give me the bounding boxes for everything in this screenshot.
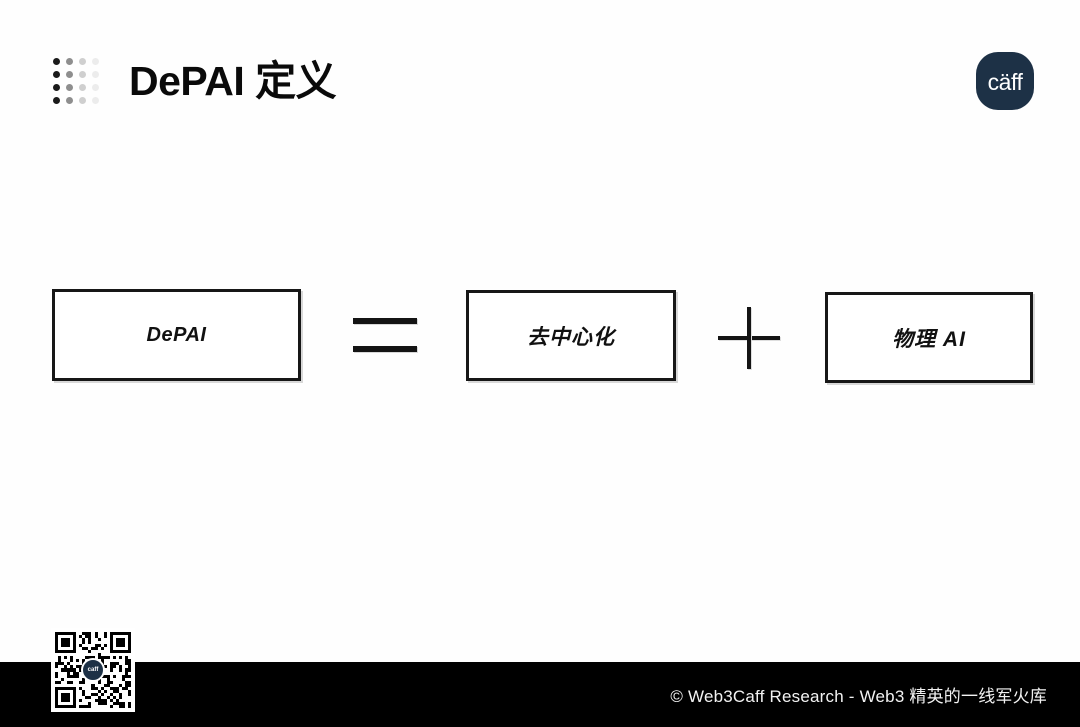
concept-box-decentralized: 去中心化 [466, 290, 676, 381]
qr-code[interactable]: caff [51, 628, 135, 712]
brand-logo-text: cäff [988, 71, 1023, 94]
dot-grid-cell [76, 55, 89, 68]
dot-icon [79, 58, 86, 65]
qr-code-center-badge: caff [81, 658, 105, 682]
concept-label-depai: DePAI [147, 324, 207, 347]
dot-icon [92, 84, 99, 91]
dot-grid-cell [76, 94, 89, 107]
slide-canvas: DePAI 定义 cäff DePAI 去中心化 物理 AI caff © W [0, 0, 1080, 727]
dot-icon [53, 71, 60, 78]
dot-icon [53, 58, 60, 65]
operator-plus [718, 307, 780, 369]
page-title: DePAI 定义 [129, 52, 336, 110]
dot-grid-cell [50, 94, 63, 107]
dot-icon [66, 97, 73, 104]
dot-grid-decoration [50, 55, 102, 107]
concept-label-physical-ai: 物理 AI [892, 323, 966, 353]
dot-icon [79, 97, 86, 104]
dot-grid-cell [50, 68, 63, 81]
dot-grid-cell [50, 81, 63, 94]
dot-icon [66, 71, 73, 78]
dot-grid-cell [89, 81, 102, 94]
dot-grid-cell [76, 81, 89, 94]
dot-icon [53, 97, 60, 104]
dot-grid-cell [76, 68, 89, 81]
equals-bar-bottom [353, 346, 417, 352]
dot-icon [66, 84, 73, 91]
dot-grid-cell [63, 68, 76, 81]
dot-grid-cell [63, 81, 76, 94]
dot-grid-cell [50, 55, 63, 68]
dot-icon [79, 84, 86, 91]
dot-grid-cell [63, 94, 76, 107]
brand-logo: cäff [976, 52, 1034, 110]
dot-icon [66, 58, 73, 65]
operator-equals [353, 318, 417, 354]
dot-icon [92, 97, 99, 104]
dot-icon [92, 71, 99, 78]
dot-icon [53, 84, 60, 91]
dot-icon [92, 58, 99, 65]
qr-code-badge-label: caff [88, 667, 99, 673]
equals-bar-top [353, 318, 417, 324]
concept-box-depai: DePAI [52, 289, 301, 381]
footer-credit: © Web3Caff Research - Web3 精英的一线军火库 [670, 682, 1047, 707]
concept-label-decentralized: 去中心化 [527, 321, 615, 351]
plus-bar-vertical [747, 307, 751, 369]
dot-grid-cell [89, 55, 102, 68]
concept-box-physical-ai: 物理 AI [825, 292, 1033, 383]
dot-grid-cell [89, 94, 102, 107]
dot-grid-cell [63, 55, 76, 68]
dot-icon [79, 71, 86, 78]
dot-grid-cell [89, 68, 102, 81]
